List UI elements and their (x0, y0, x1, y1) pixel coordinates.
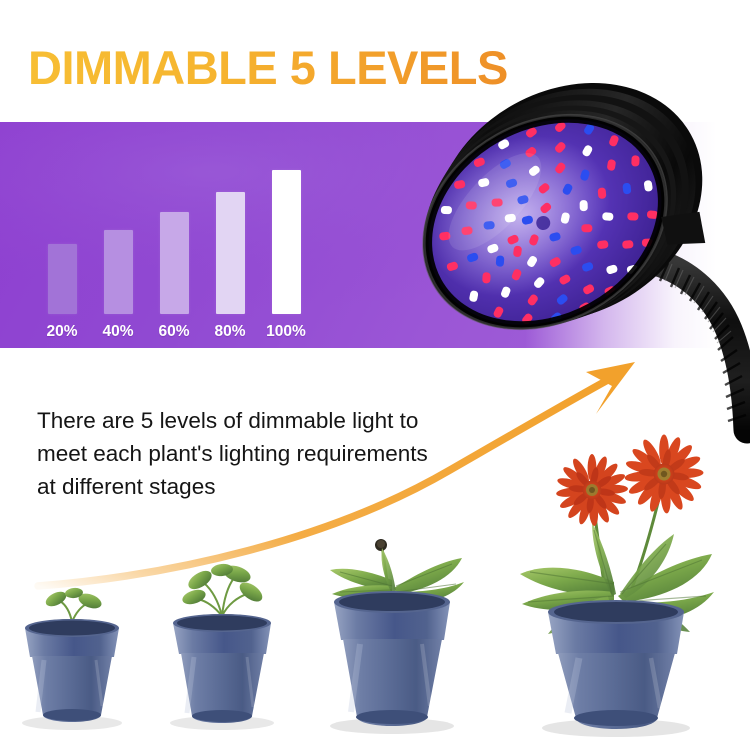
bar-100 (272, 170, 301, 314)
bar-column: 60% (146, 130, 202, 340)
description-text: There are 5 levels of dimmable light to … (37, 404, 507, 503)
bar-label-20: 20% (46, 323, 77, 340)
arrow-head (586, 362, 635, 414)
led-grow-light (0, 0, 750, 750)
description-line-3: at different stages (37, 470, 507, 503)
bar-80 (216, 192, 245, 314)
gerbera-flower (624, 435, 703, 514)
bar-label-40: 40% (102, 323, 133, 340)
gerbera-flower (556, 454, 628, 526)
bar-40 (104, 230, 133, 314)
dimming-bar-chart: 20% 40% 60% 80% 100% (34, 130, 334, 340)
description-line-1: There are 5 levels of dimmable light to (37, 404, 507, 437)
bar-column: 40% (90, 130, 146, 340)
bar-60 (160, 212, 189, 314)
product-infographic: DIMMABLE 5 LEVELS 20% 40% 60% (0, 0, 750, 750)
plant-stage-1 (22, 587, 122, 730)
bar-column: 80% (202, 130, 258, 340)
plant-stage-4 (520, 435, 714, 738)
description-line-2: meet each plant's lighting requirements (37, 437, 507, 470)
bar-column: 20% (34, 130, 90, 340)
bar-label-60: 60% (158, 323, 189, 340)
bar-label-100: 100% (266, 323, 306, 340)
plant-stage-2 (170, 563, 274, 730)
bar-20 (48, 244, 77, 314)
page-title: DIMMABLE 5 LEVELS (28, 42, 508, 94)
bar-column: 100% (258, 130, 314, 340)
plant-stage-3 (330, 539, 464, 734)
bar-label-80: 80% (214, 323, 245, 340)
